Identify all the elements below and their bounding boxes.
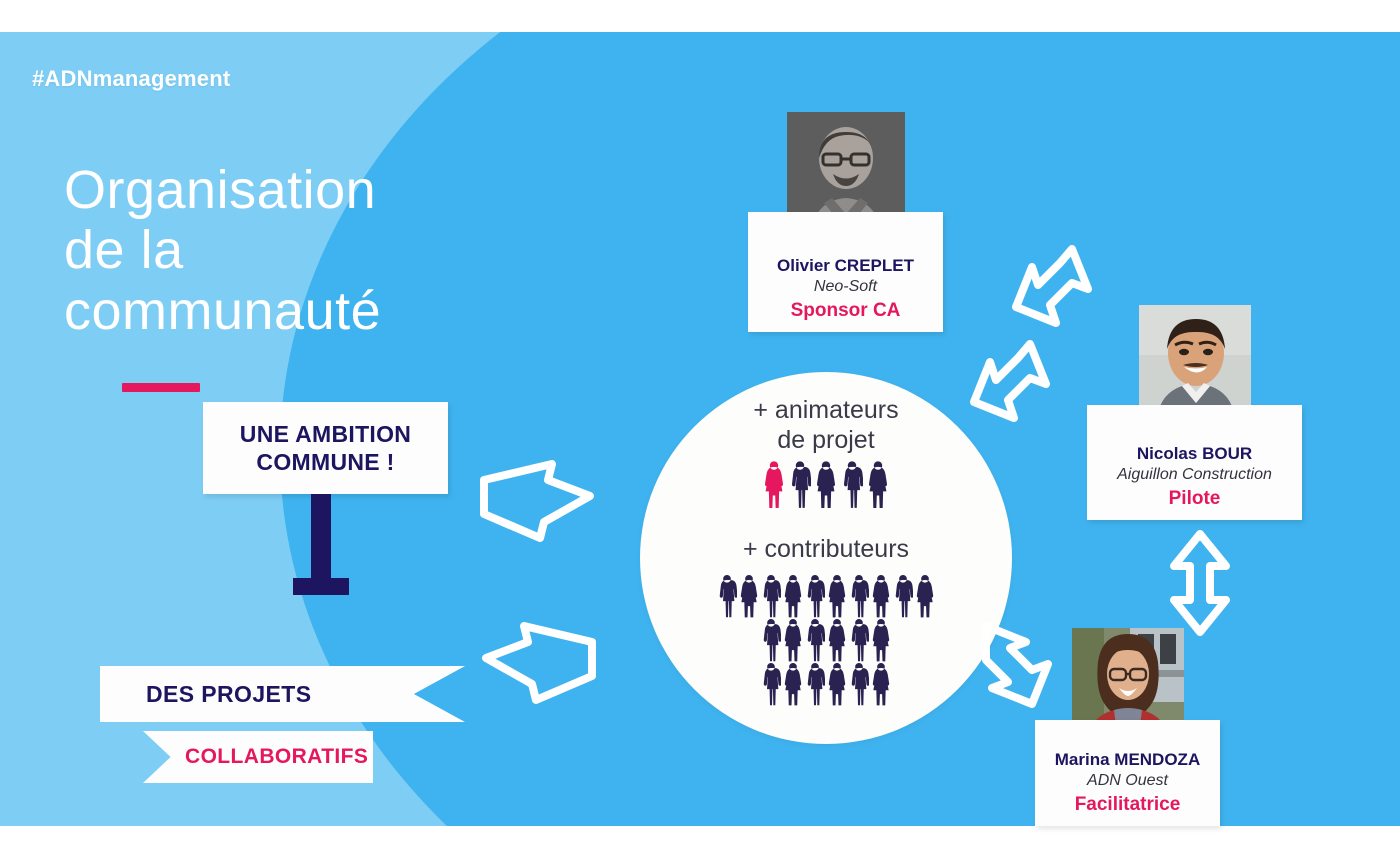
member-name: Nicolas BOUR	[1137, 443, 1252, 464]
person-female-icon	[815, 460, 837, 510]
person-male-icon	[849, 662, 869, 707]
arrow-nicolas-marina-icon	[1152, 528, 1242, 643]
person-female-icon	[827, 662, 847, 707]
ambition-stand-base	[293, 578, 349, 595]
banner-des-projets-label: DES PROJETS	[146, 681, 311, 708]
arrow-core-marina-icon	[960, 614, 1070, 729]
member-plate-olivier: Olivier CREPLET Neo-Soft Sponsor CA	[748, 212, 943, 332]
person-female-icon	[871, 618, 891, 663]
person-male-icon	[893, 574, 913, 619]
member-card-olivier[interactable]: Olivier CREPLET Neo-Soft Sponsor CA	[748, 112, 943, 332]
avatar-nicolas	[1139, 305, 1251, 417]
banner-des-projets: DES PROJETS	[100, 666, 465, 722]
member-role: Sponsor CA	[791, 298, 901, 324]
person-male-icon	[849, 574, 869, 619]
person-male-icon	[789, 460, 811, 510]
person-female-icon	[763, 460, 785, 510]
ambition-box: UNE AMBITION COMMUNE !	[203, 402, 448, 494]
member-name: Marina MENDOZA	[1055, 749, 1200, 770]
member-role: Pilote	[1169, 486, 1221, 512]
person-female-icon	[827, 574, 847, 619]
contributors-figure-row-1	[640, 574, 1012, 619]
animators-figure-row	[640, 460, 1012, 510]
accent-rule	[122, 383, 200, 392]
person-female-icon	[739, 574, 759, 619]
infographic-canvas: #ADNmanagement Organisationde lacommunau…	[0, 0, 1400, 860]
banner-collaboratifs-label: COLLABORATIFS	[185, 745, 368, 769]
person-female-icon	[867, 460, 889, 510]
ambition-line-1: UNE AMBITION	[240, 420, 411, 448]
person-male-icon	[805, 662, 825, 707]
person-female-icon	[783, 618, 803, 663]
person-male-icon	[717, 574, 737, 619]
person-male-icon	[761, 662, 781, 707]
arrow-in-top-icon	[478, 458, 598, 548]
person-female-icon	[783, 574, 803, 619]
arrow-core-olivier-icon	[948, 338, 1058, 453]
person-female-icon	[871, 574, 891, 619]
banner-collaboratifs: COLLABORATIFS	[143, 731, 373, 783]
person-female-icon	[871, 662, 891, 707]
member-org: Neo-Soft	[814, 277, 877, 298]
ambition-line-2: COMMUNE !	[256, 448, 394, 476]
member-role: Facilitatrice	[1075, 792, 1181, 818]
person-female-icon	[827, 618, 847, 663]
member-org: Aiguillon Construction	[1117, 465, 1272, 486]
person-male-icon	[841, 460, 863, 510]
person-male-icon	[805, 574, 825, 619]
member-card-nicolas[interactable]: Nicolas BOUR Aiguillon Construction Pilo…	[1087, 305, 1302, 520]
person-male-icon	[849, 618, 869, 663]
ambition-stand-post	[311, 494, 331, 578]
arrow-in-bottom-icon	[478, 620, 598, 710]
contributors-label: + contributeurs	[640, 535, 1012, 565]
page-title: Organisationde lacommunauté	[64, 160, 534, 341]
person-male-icon	[761, 618, 781, 663]
person-female-icon	[915, 574, 935, 619]
member-org: ADN Ouest	[1087, 771, 1168, 792]
member-plate-marina: Marina MENDOZA ADN Ouest Facilitatrice	[1035, 720, 1220, 826]
contributors-figure-row-3	[640, 662, 1012, 707]
contributors-figure-row-2	[640, 618, 1012, 663]
hashtag-label: #ADNmanagement	[32, 66, 230, 92]
person-male-icon	[761, 574, 781, 619]
person-male-icon	[805, 618, 825, 663]
person-female-icon	[783, 662, 803, 707]
member-plate-nicolas: Nicolas BOUR Aiguillon Construction Pilo…	[1087, 405, 1302, 520]
member-name: Olivier CREPLET	[777, 255, 914, 276]
